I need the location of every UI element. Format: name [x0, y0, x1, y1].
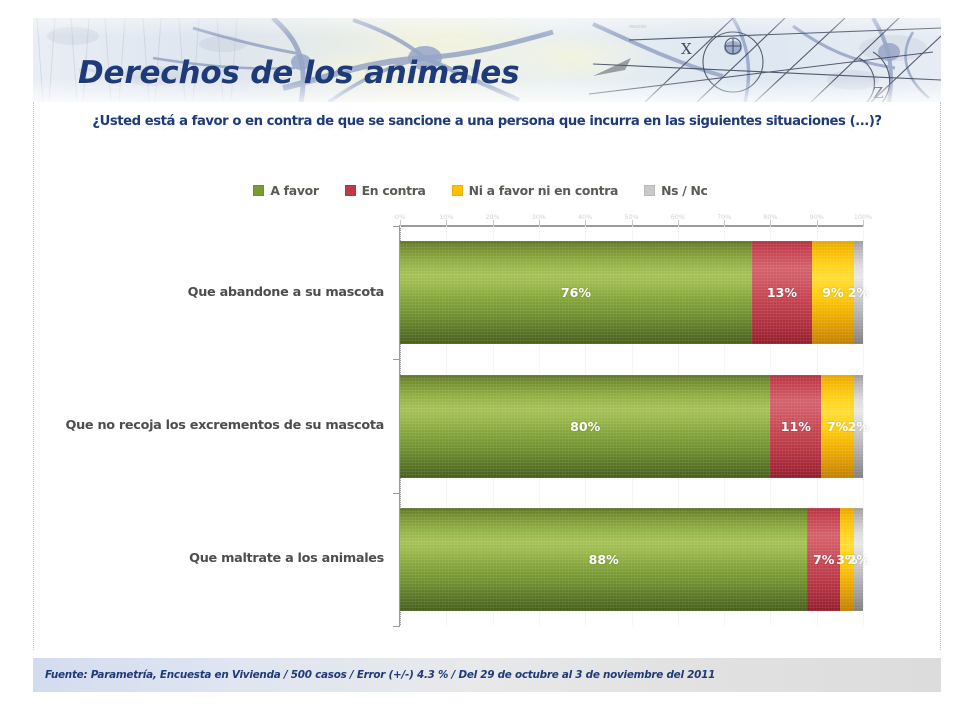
bar-value-label: 9%: [822, 285, 843, 300]
x-axis-tick-label: 20%: [485, 213, 499, 221]
category-label: Que no recoja los excrementos de su masc…: [66, 418, 384, 433]
y-axis-category-tick: [393, 626, 400, 627]
stacked-bar: 88%7%3%2%: [400, 508, 863, 611]
stacked-bar-chart: 0%10%20%30%40%50%60%70%80%90%100%76%13%9…: [0, 212, 961, 637]
bar-value-label: 2%: [848, 419, 869, 434]
bar-value-label: 88%: [589, 552, 619, 567]
bar-segment-ns-nc[interactable]: 2%: [854, 508, 863, 611]
bar-value-label: 76%: [561, 285, 591, 300]
legend-swatch-icon: [345, 185, 356, 196]
legend-swatch-icon: [452, 185, 463, 196]
legend-label: Ns / Nc: [661, 183, 708, 198]
bar-segment-a-favor[interactable]: 88%: [400, 508, 807, 611]
chart-row: 80%11%7%2%: [400, 375, 863, 478]
stacked-bar: 80%11%7%2%: [400, 375, 863, 478]
chart-legend: A favor En contra Ni a favor ni en contr…: [0, 183, 961, 198]
x-axis-tick-label: 70%: [717, 213, 731, 221]
bar-value-label: 80%: [570, 419, 600, 434]
x-axis-tick-label: 100%: [854, 213, 872, 221]
x-axis-tick-label: 90%: [810, 213, 824, 221]
bar-value-label: 7%: [813, 552, 834, 567]
legend-label: En contra: [362, 183, 426, 198]
bar-value-label: 11%: [781, 419, 811, 434]
x-axis-tick-label: 10%: [439, 213, 453, 221]
legend-item-en-contra[interactable]: En contra: [345, 183, 426, 198]
bar-segment-ns-nc[interactable]: 2%: [854, 241, 863, 344]
question-text: ¿Usted está a favor o en contra de que s…: [33, 114, 941, 129]
question-block: ¿Usted está a favor o en contra de que s…: [33, 114, 941, 154]
page-title: Derechos de los animales: [78, 55, 519, 91]
y-axis-category-tick: [393, 226, 400, 227]
bar-segment-a-favor[interactable]: 76%: [400, 241, 752, 344]
bar-value-label: 13%: [767, 285, 797, 300]
legend-label: A favor: [270, 183, 318, 198]
y-axis-category-tick: [393, 493, 400, 494]
x-axis-tick-label: 30%: [532, 213, 546, 221]
x-axis-tick-label: 80%: [763, 213, 777, 221]
bar-segment-en-contra[interactable]: 11%: [770, 375, 821, 478]
bar-segment-en-contra[interactable]: 13%: [752, 241, 812, 344]
bar-segment-en-contra[interactable]: 7%: [807, 508, 839, 611]
category-label: Que abandone a su mascota: [188, 285, 384, 300]
chart-row: 76%13%9%2%: [400, 241, 863, 344]
legend-item-ni-a-favor-ni-en-contra[interactable]: Ni a favor ni en contra: [452, 183, 618, 198]
slide: X Z neuron Derechos de los animales Dere…: [0, 0, 961, 721]
bar-value-label: 2%: [848, 552, 869, 567]
x-axis-tick-label: 50%: [624, 213, 638, 221]
legend-item-a-favor[interactable]: A favor: [253, 183, 318, 198]
x-axis-tick-label: 40%: [578, 213, 592, 221]
legend-item-ns-nc[interactable]: Ns / Nc: [644, 183, 708, 198]
y-axis-category-tick: [393, 359, 400, 360]
source-footer: Fuente: Parametría, Encuesta en Vivienda…: [33, 658, 941, 692]
source-text: Fuente: Parametría, Encuesta en Vivienda…: [45, 669, 715, 681]
legend-label: Ni a favor ni en contra: [469, 183, 618, 198]
bar-segment-ns-nc[interactable]: 2%: [854, 375, 863, 478]
x-axis-tick-label: 0%: [395, 213, 405, 221]
bar-value-label: 2%: [848, 285, 869, 300]
bar-segment-a-favor[interactable]: 80%: [400, 375, 770, 478]
x-axis-tick-label: 60%: [671, 213, 685, 221]
legend-swatch-icon: [644, 185, 655, 196]
chart-row: 88%7%3%2%: [400, 508, 863, 611]
legend-swatch-icon: [253, 185, 264, 196]
bar-value-label: 7%: [827, 419, 848, 434]
category-label: Que maltrate a los animales: [189, 551, 384, 566]
stacked-bar: 76%13%9%2%: [400, 241, 863, 344]
header-banner: X Z neuron Derechos de los animales Dere…: [33, 18, 941, 102]
plot-area: 0%10%20%30%40%50%60%70%80%90%100%76%13%9…: [400, 226, 863, 626]
